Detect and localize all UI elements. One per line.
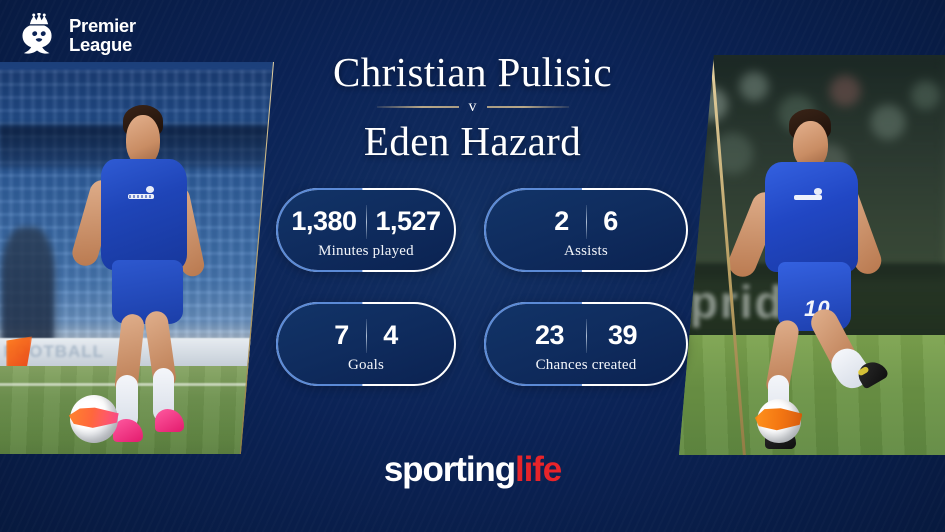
shirt-sponsor-yokohama xyxy=(128,194,154,199)
player-shirt xyxy=(765,162,858,272)
stat-label: Goals xyxy=(348,357,384,374)
club-crest-icon xyxy=(814,188,822,195)
stat-label: Chances created xyxy=(536,357,637,374)
stat-divider xyxy=(586,319,587,353)
stat-pill-assists: 2 6 Assists xyxy=(484,188,688,272)
stadium-background-right: pride 10 xyxy=(679,55,945,455)
premier-league-line2: League xyxy=(69,36,136,55)
player-figure-pulisic xyxy=(81,105,236,442)
versus-label: v xyxy=(469,99,477,115)
stat-divider xyxy=(366,205,367,239)
player-shirt xyxy=(101,159,188,270)
stat-value-right: 39 xyxy=(596,322,650,349)
stat-values: 7 4 xyxy=(327,319,406,353)
logo-life: life xyxy=(515,450,561,489)
stat-divider xyxy=(586,205,587,239)
player-photo-right: pride 10 xyxy=(679,55,945,455)
player-boot-right xyxy=(155,409,184,433)
stat-divider xyxy=(366,319,367,353)
player-figure-hazard: 10 xyxy=(738,107,904,451)
stat-value-left: 1,380 xyxy=(291,208,356,235)
versus-rule-left xyxy=(377,106,459,108)
stat-value-left: 7 xyxy=(327,322,357,349)
stat-value-right: 1,527 xyxy=(376,208,441,235)
stat-comparison-grid: 1,380 1,527 Minutes played 2 6 Assists 7… xyxy=(276,188,688,388)
stat-label: Assists xyxy=(564,243,608,260)
stat-values: 23 39 xyxy=(523,319,650,353)
stat-value-right: 6 xyxy=(596,208,626,235)
club-crest-icon xyxy=(146,186,154,193)
stat-value-right: 4 xyxy=(376,322,406,349)
football-icon-right xyxy=(757,399,801,443)
versus-rule-right xyxy=(487,106,569,108)
stat-pill-chances-created: 23 39 Chances created xyxy=(484,302,688,386)
stadium-background-left: FOOTBALL xyxy=(0,62,274,454)
logo-sporting: sporting xyxy=(384,450,515,489)
comparison-graphic: FOOTBALL xyxy=(0,0,945,532)
premier-league-badge: Premier League xyxy=(18,10,178,62)
blurred-person xyxy=(1,227,55,347)
stat-values: 1,380 1,527 xyxy=(291,205,440,239)
stat-label: Minutes played xyxy=(318,243,414,260)
stat-value-left: 2 xyxy=(547,208,577,235)
premier-league-lion-crest-icon xyxy=(18,13,60,59)
shirt-sponsor-yokohama xyxy=(794,195,822,200)
stat-value-left: 23 xyxy=(523,322,577,349)
stat-values: 2 6 xyxy=(547,205,626,239)
football-icon-left xyxy=(70,395,118,443)
player-photo-left: FOOTBALL xyxy=(0,62,274,454)
stat-pill-goals: 7 4 Goals xyxy=(276,302,456,386)
stat-pill-minutes-played: 1,380 1,527 Minutes played xyxy=(276,188,456,272)
sporting-life-logo: sportinglife xyxy=(0,450,945,490)
